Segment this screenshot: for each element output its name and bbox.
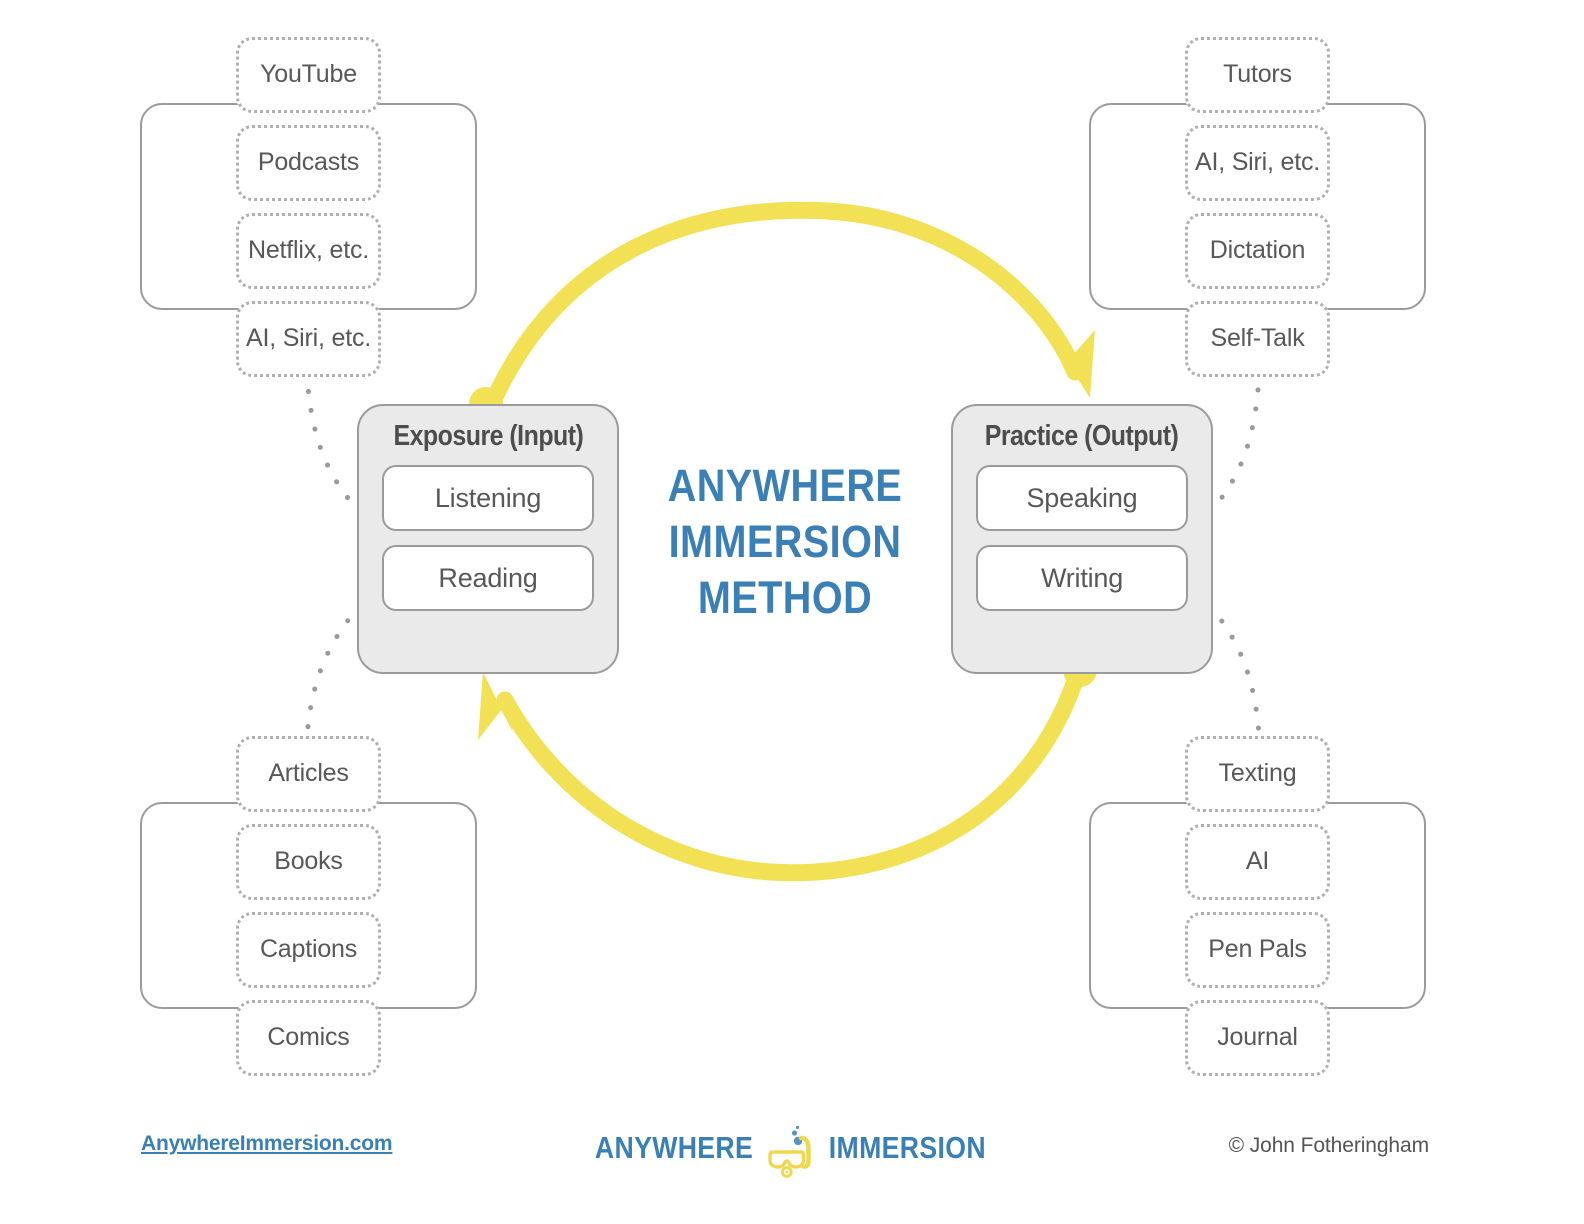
skill-speaking[interactable]: Speaking xyxy=(976,465,1188,531)
resource-chip-books[interactable]: Books xyxy=(236,824,381,900)
cycle-arrow-practice-to-exposure xyxy=(478,653,1097,873)
panel-practice-output: Practice (Output) Speaking Writing xyxy=(951,404,1213,674)
resource-chip-tutors[interactable]: Tutors xyxy=(1185,37,1330,113)
resource-chip-journal[interactable]: Journal xyxy=(1185,1000,1330,1076)
resource-chip-ai-siri-listening[interactable]: AI, Siri, etc. xyxy=(236,301,381,377)
resource-chip-self-talk[interactable]: Self-Talk xyxy=(1185,301,1330,377)
resource-chip-texting[interactable]: Texting xyxy=(1185,736,1330,812)
copyright-notice: © John Fotheringham xyxy=(1229,1134,1429,1158)
resource-chip-netflix[interactable]: Netflix, etc. xyxy=(236,213,381,289)
resource-chip-dictation[interactable]: Dictation xyxy=(1185,213,1330,289)
brand-word-immersion: IMMERSION xyxy=(828,1130,985,1166)
resource-chip-comics[interactable]: Comics xyxy=(236,1000,381,1076)
footer: AnywhereImmersion.com ANYWHERE xyxy=(0,1118,1584,1178)
resource-chip-captions[interactable]: Captions xyxy=(236,912,381,988)
panel-title-practice: Practice (Output) xyxy=(985,420,1179,453)
resource-chip-ai-writing[interactable]: AI xyxy=(1185,824,1330,900)
resource-group-speaking: Tutors AI, Siri, etc. Dictation Self-Tal… xyxy=(1089,103,1426,310)
snorkel-mask-icon xyxy=(768,1122,814,1178)
resource-group-writing: Texting AI Pen Pals Journal xyxy=(1089,802,1426,1009)
panel-title-exposure: Exposure (Input) xyxy=(393,420,583,453)
resource-chip-pen-pals[interactable]: Pen Pals xyxy=(1185,912,1330,988)
resource-group-listening: YouTube Podcasts Netflix, etc. AI, Siri,… xyxy=(140,103,477,310)
skill-listening[interactable]: Listening xyxy=(382,465,594,531)
brand-word-anywhere: ANYWHERE xyxy=(595,1130,753,1166)
resource-chip-youtube[interactable]: YouTube xyxy=(236,37,381,113)
skill-writing[interactable]: Writing xyxy=(976,545,1188,611)
cycle-arrow-exposure-to-practice xyxy=(469,210,1095,421)
diagram-canvas: YouTube Podcasts Netflix, etc. AI, Siri,… xyxy=(0,0,1584,1224)
website-link[interactable]: AnywhereImmersion.com xyxy=(141,1132,392,1156)
brand-logo: ANYWHERE IMMERSION xyxy=(640,1118,940,1178)
resource-chip-podcasts[interactable]: Podcasts xyxy=(236,125,381,201)
panel-exposure-input: Exposure (Input) Listening Reading xyxy=(357,404,619,674)
diagram-title: ANYWHERE IMMERSION METHOD xyxy=(640,458,930,626)
diagram-title-line-3: METHOD xyxy=(640,570,930,626)
diagram-title-line-1: ANYWHERE xyxy=(640,458,930,514)
diagram-title-line-2: IMMERSION xyxy=(640,514,930,570)
skill-reading[interactable]: Reading xyxy=(382,545,594,611)
resource-chip-ai-siri-speaking[interactable]: AI, Siri, etc. xyxy=(1185,125,1330,201)
resource-group-reading: Articles Books Captions Comics xyxy=(140,802,477,1009)
resource-chip-articles[interactable]: Articles xyxy=(236,736,381,812)
